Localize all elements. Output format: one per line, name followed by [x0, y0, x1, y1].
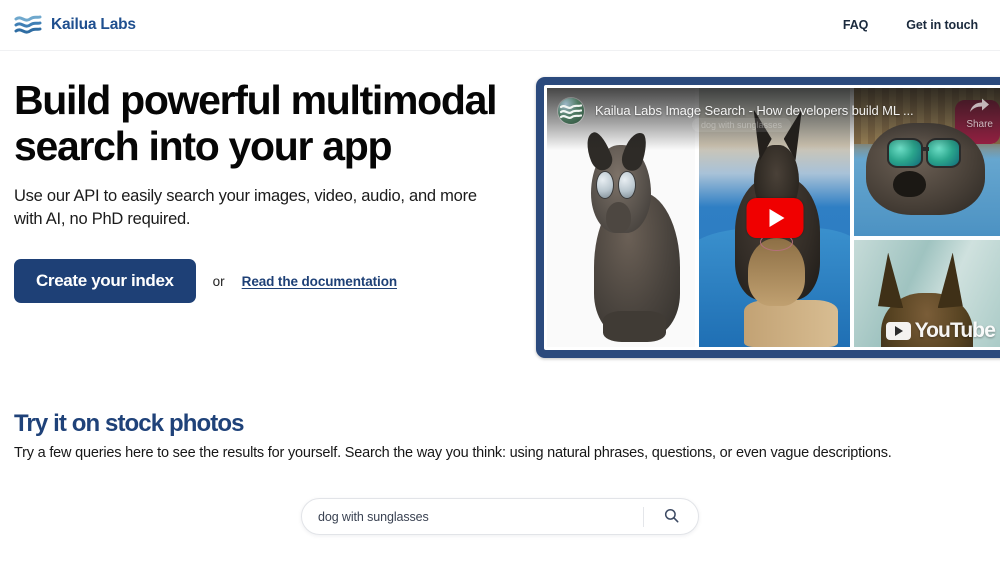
- brand-logo-link[interactable]: Kailua Labs: [14, 13, 136, 37]
- hero-copy: Build powerful multimodal search into yo…: [14, 77, 506, 358]
- create-index-button[interactable]: Create your index: [14, 259, 196, 303]
- video-frame: Kailua Labs Image Search - How developer…: [536, 77, 1000, 358]
- search-row: [14, 498, 986, 535]
- search-box[interactable]: [301, 498, 699, 535]
- share-arrow-icon: [969, 97, 990, 117]
- cta-separator-label: or: [213, 274, 225, 289]
- read-documentation-link[interactable]: Read the documentation: [242, 274, 397, 289]
- video-ghost-query: dog with sunglasses: [692, 118, 791, 132]
- nav-link-get-in-touch[interactable]: Get in touch: [906, 18, 978, 32]
- section-title: Try it on stock photos: [14, 410, 986, 438]
- hero-video-column: Kailua Labs Image Search - How developer…: [536, 77, 1000, 358]
- section-subtitle: Try a few queries here to see the result…: [14, 445, 986, 461]
- hero-subtitle: Use our API to easily search your images…: [14, 185, 494, 231]
- search-submit-button[interactable]: [644, 499, 698, 534]
- main-nav: FAQ Get in touch: [843, 18, 978, 32]
- page-title: Build powerful multimodal search into yo…: [14, 77, 506, 169]
- site-header: Kailua Labs FAQ Get in touch: [0, 0, 1000, 51]
- thumb-image-dog-ears: [854, 236, 1000, 347]
- video-share-button[interactable]: Share: [966, 97, 993, 130]
- waves-icon: [14, 13, 42, 37]
- hero-cta-row: Create your index or Read the documentat…: [14, 259, 506, 303]
- play-button[interactable]: [747, 198, 804, 238]
- stock-photos-section: Try it on stock photos Try a few queries…: [0, 358, 1000, 535]
- search-input[interactable]: [302, 510, 643, 524]
- thumb-image-schnauzer: [547, 88, 695, 347]
- search-icon: [664, 508, 679, 526]
- hero-section: Build powerful multimodal search into yo…: [0, 51, 1000, 358]
- brand-name: Kailua Labs: [51, 16, 136, 34]
- play-triangle-icon: [769, 209, 784, 227]
- youtube-player[interactable]: Kailua Labs Image Search - How developer…: [544, 85, 1000, 350]
- nav-link-faq[interactable]: FAQ: [843, 18, 868, 32]
- share-label: Share: [966, 119, 993, 130]
